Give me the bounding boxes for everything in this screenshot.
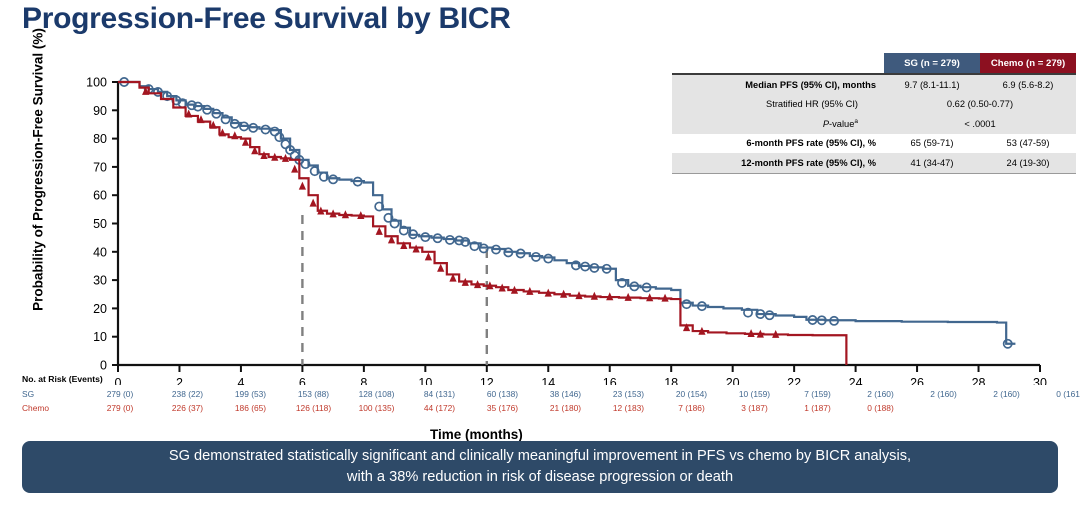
censor-mark-circle: [329, 175, 337, 183]
risk-cell: 84 (131): [408, 387, 471, 401]
censor-mark-triangle: [376, 228, 382, 235]
risk-cell: 186 (65): [219, 401, 282, 415]
risk-row-label: Chemo: [22, 401, 84, 415]
risk-cell: 7 (186): [660, 401, 723, 415]
y-axis-tick-label: 50: [93, 217, 107, 231]
censor-mark-circle: [544, 254, 552, 262]
risk-table-block: No. at Risk (Events) SG279 (0)238 (22)19…: [22, 374, 1072, 415]
risk-cell: 23 (153): [597, 387, 660, 401]
risk-row-label: SG: [22, 387, 84, 401]
y-axis-tick-label: 90: [93, 104, 107, 118]
risk-cell: 279 (0): [84, 401, 156, 415]
y-axis-tick-label: 80: [93, 132, 107, 146]
risk-cell: 128 (108): [345, 387, 408, 401]
y-axis-tick-label: 70: [93, 160, 107, 174]
risk-cell: 0 (161): [1038, 387, 1080, 401]
y-axis-tick-label: 30: [93, 274, 107, 288]
risk-cell: 21 (180): [534, 401, 597, 415]
censor-mark-circle: [275, 133, 283, 141]
y-axis-tick-label: 0: [100, 359, 107, 373]
risk-cell: 153 (88): [282, 387, 345, 401]
risk-cell: 2 (160): [912, 387, 975, 401]
censor-mark-triangle: [425, 253, 431, 260]
km-series: [118, 82, 846, 365]
risk-cell: 199 (53): [219, 387, 282, 401]
y-axis-tick-label: 60: [93, 189, 107, 203]
risk-table-row: Chemo279 (0)226 (37)186 (65)126 (118)100…: [22, 401, 1080, 415]
risk-cell: 10 (159): [723, 387, 786, 401]
km-chart: Probability of Progression-Free Survival…: [0, 45, 1080, 375]
risk-cell: 100 (135): [345, 401, 408, 415]
risk-cell: 2 (160): [849, 387, 912, 401]
y-axis-label: Probability of Progression-Free Survival…: [31, 25, 46, 315]
km-curve: [118, 82, 846, 365]
risk-cell: 0 (188): [849, 401, 912, 415]
risk-cell: 126 (118): [282, 401, 345, 415]
risk-cell: 60 (138): [471, 387, 534, 401]
risk-table-title: No. at Risk (Events): [22, 374, 1072, 384]
risk-table-row: SG279 (0)238 (22)199 (53)153 (88)128 (10…: [22, 387, 1080, 401]
y-axis-tick-label: 40: [93, 245, 107, 259]
km-curve: [118, 82, 1015, 344]
risk-cell: 44 (172): [408, 401, 471, 415]
risk-cell: [975, 401, 1038, 415]
banner-line-2: with a 38% reduction in risk of disease …: [347, 469, 733, 485]
risk-cell: 38 (146): [534, 387, 597, 401]
km-plot-svg: 0102030405060708090100024681012141618202…: [0, 45, 1080, 385]
y-axis-tick-label: 10: [93, 330, 107, 344]
risk-cell: 279 (0): [84, 387, 156, 401]
risk-cell: 20 (154): [660, 387, 723, 401]
risk-cell: 7 (159): [786, 387, 849, 401]
censor-mark-triangle: [232, 132, 238, 139]
banner-line-1: SG demonstrated statistically significan…: [169, 448, 911, 464]
censor-mark-triangle: [252, 147, 258, 154]
censor-mark-triangle: [261, 152, 267, 159]
risk-cell: 3 (187): [723, 401, 786, 415]
risk-cell: [1038, 401, 1080, 415]
summary-banner: SG demonstrated statistically significan…: [22, 441, 1058, 493]
censor-mark-triangle: [450, 275, 456, 282]
km-series: [118, 78, 1015, 348]
censor-mark-triangle: [310, 200, 316, 207]
censor-mark-triangle: [243, 139, 249, 146]
risk-cell: [912, 401, 975, 415]
risk-cell: 1 (187): [786, 401, 849, 415]
x-axis-label: Time (months): [430, 427, 523, 442]
y-axis-tick-label: 20: [93, 302, 107, 316]
page-title: Progression-Free Survival by BICR: [22, 2, 511, 36]
censor-mark-triangle: [438, 265, 444, 272]
censor-mark-circle: [765, 311, 773, 319]
censor-mark-triangle: [292, 166, 298, 173]
risk-table: SG279 (0)238 (22)199 (53)153 (88)128 (10…: [22, 387, 1080, 415]
risk-cell: 238 (22): [156, 387, 219, 401]
censor-mark-triangle: [389, 236, 395, 243]
risk-cell: 35 (176): [471, 401, 534, 415]
censor-mark-triangle: [299, 183, 305, 190]
risk-cell: 12 (183): [597, 401, 660, 415]
risk-cell: 226 (37): [156, 401, 219, 415]
risk-cell: 2 (160): [975, 387, 1038, 401]
censor-mark-circle: [682, 300, 690, 308]
censor-mark-triangle: [413, 245, 419, 252]
y-axis-tick-label: 100: [86, 76, 107, 90]
